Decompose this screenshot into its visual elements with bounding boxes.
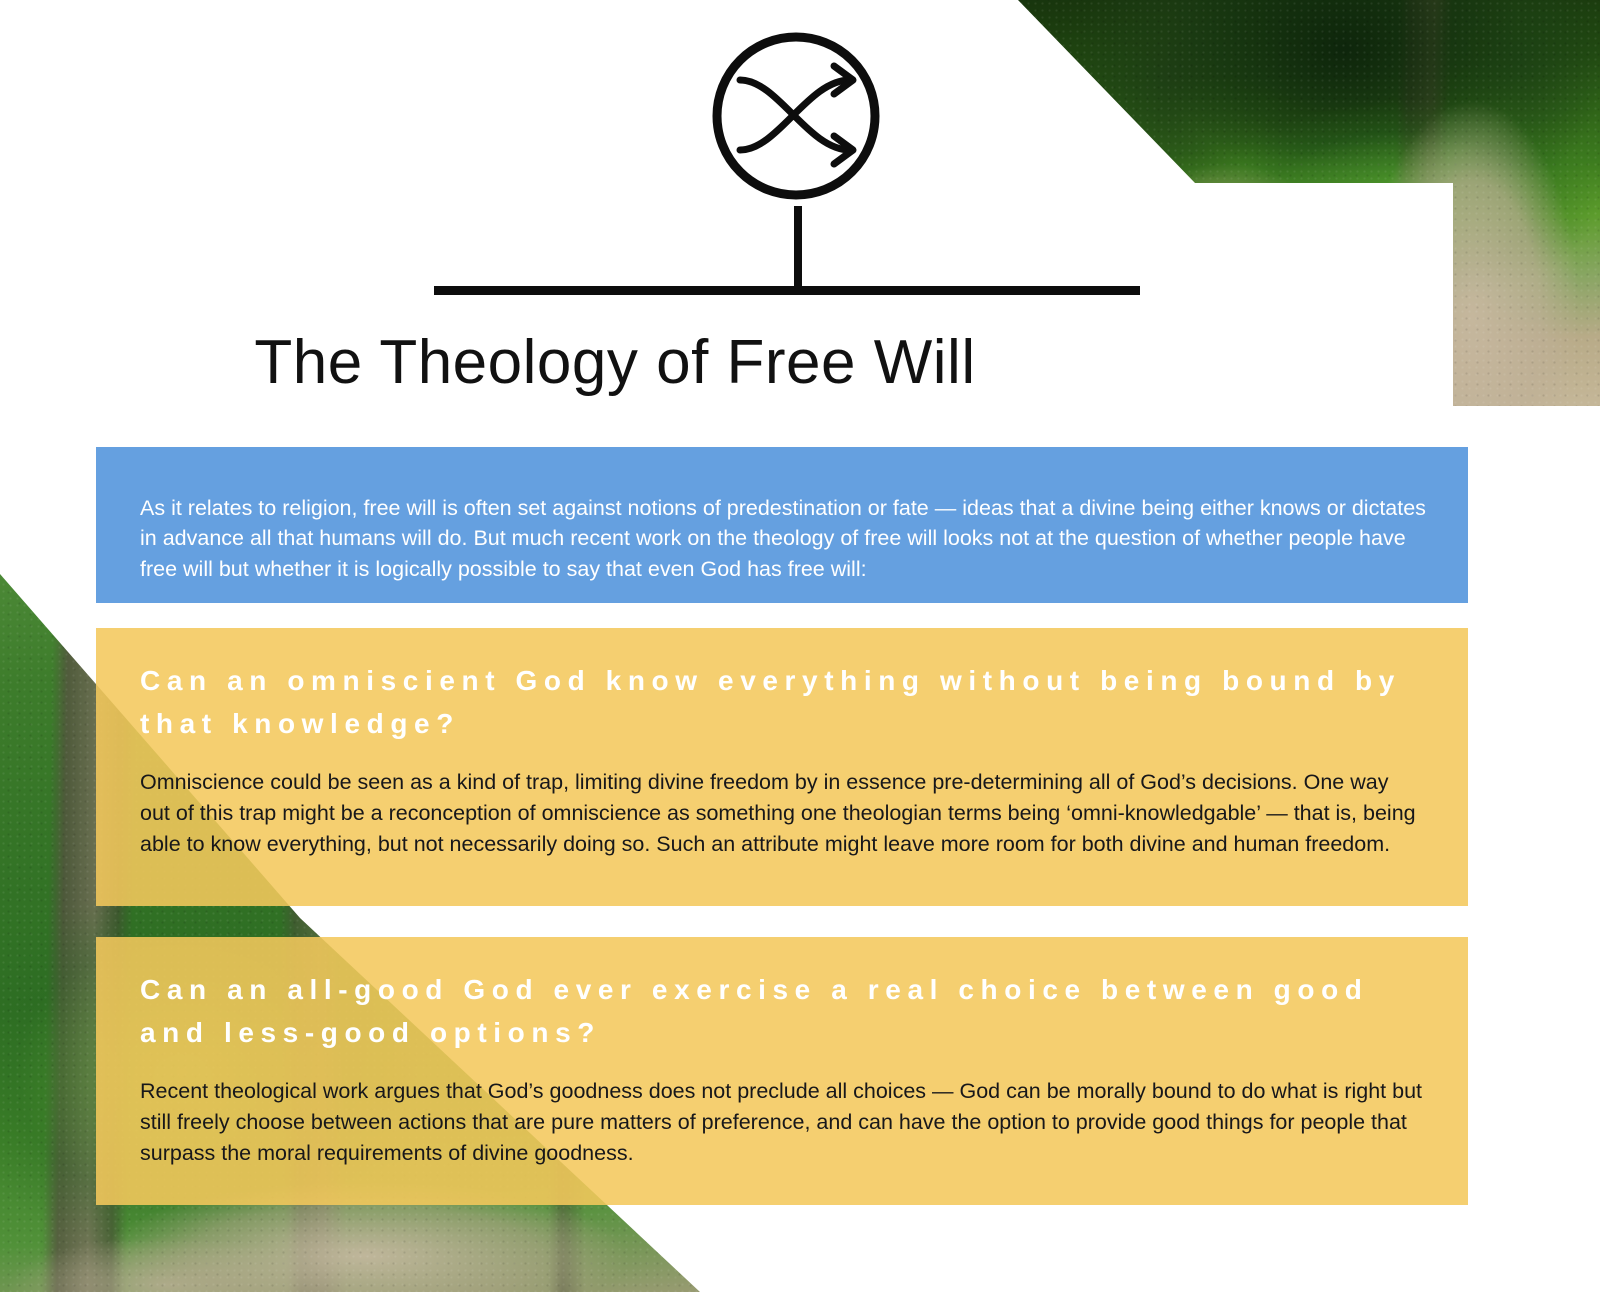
logo-mark <box>420 18 1150 288</box>
crossing-arrows-circle-icon <box>708 28 884 204</box>
intro-paragraph: As it relates to religion, free will is … <box>140 493 1428 586</box>
logo-stem <box>794 206 802 292</box>
page-title: The Theology of Free Will <box>0 330 1230 395</box>
question-body-2: Recent theological work argues that God’… <box>140 1076 1424 1169</box>
infographic-page: The Theology of Free Will As it relates … <box>0 0 1600 1292</box>
question-block-2: Can an all-good God ever exercise a real… <box>96 937 1468 1205</box>
intro-block: As it relates to religion, free will is … <box>96 447 1468 603</box>
header: The Theology of Free Will <box>0 0 1600 420</box>
question-heading-1: Can an omniscient God know everything wi… <box>140 660 1424 745</box>
question-heading-2: Can an all-good God ever exercise a real… <box>140 969 1424 1054</box>
question-body-1: Omniscience could be seen as a kind of t… <box>140 767 1424 860</box>
question-block-1: Can an omniscient God know everything wi… <box>96 628 1468 906</box>
logo-horizontal-rule <box>434 286 1140 295</box>
